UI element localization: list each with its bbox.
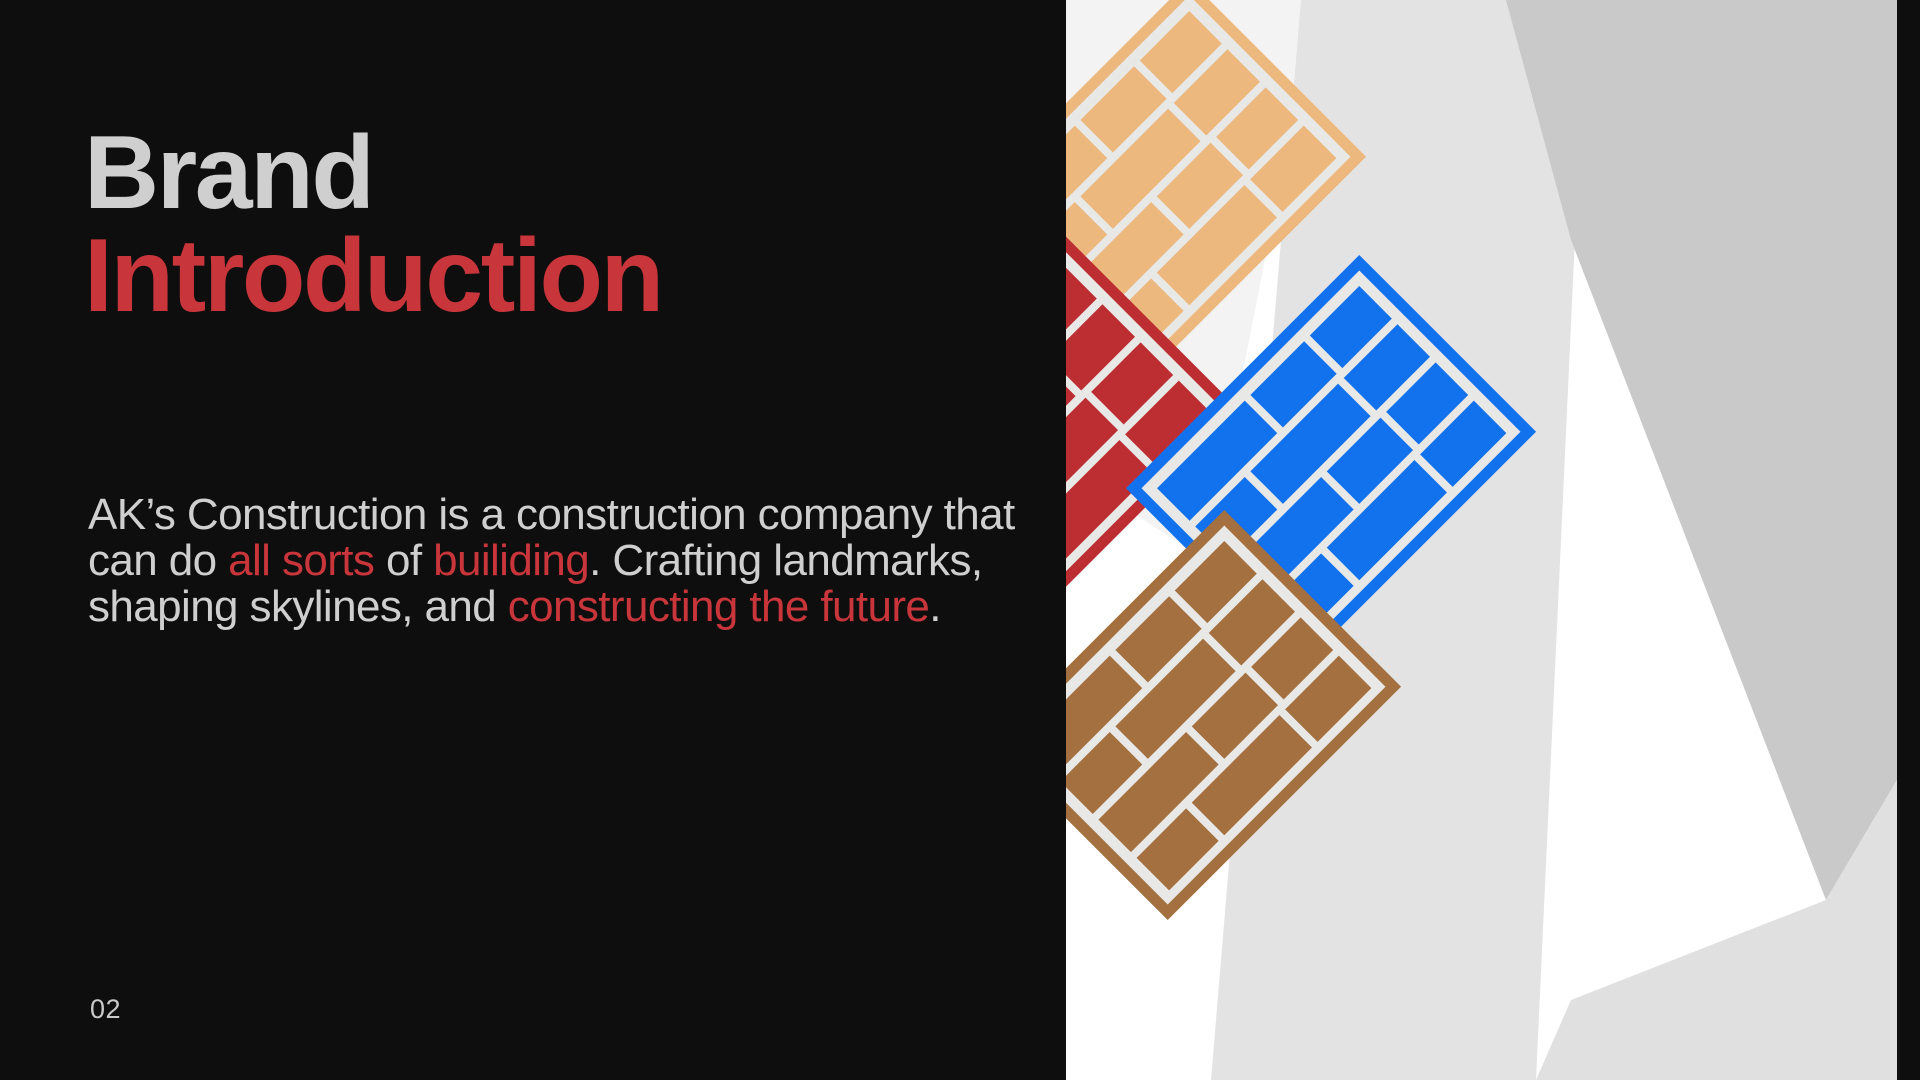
content-panel: Brand Introduction AK’s Construction is … (0, 0, 1066, 1080)
body-paragraph: AK’s Construction is a construction comp… (88, 492, 1048, 630)
slide-root: Brand Introduction AK’s Construction is … (0, 0, 1920, 1080)
body-segment-3: of (374, 536, 433, 585)
right-edge-bar (1897, 0, 1920, 1080)
body-highlight-builiding: builiding (433, 536, 589, 585)
title-line-accent: Introduction (84, 225, 662, 328)
page-title: Brand Introduction (84, 122, 662, 328)
artwork-panel (1066, 0, 1897, 1080)
body-segment-7: . (929, 582, 941, 631)
body-highlight-constructing-the-future: constructing the future (508, 582, 930, 631)
title-line-primary: Brand (84, 122, 662, 225)
body-highlight-all-sorts: all sorts (228, 536, 374, 585)
brick-panels-artwork (1066, 0, 1897, 1080)
page-number: 02 (90, 994, 121, 1025)
